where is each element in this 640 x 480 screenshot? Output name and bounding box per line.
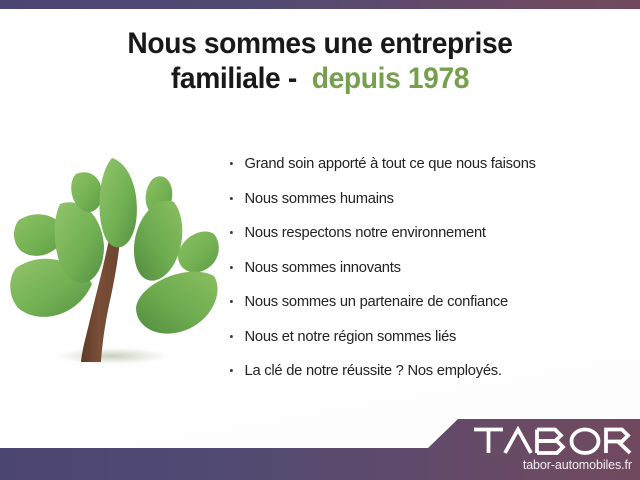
brand-tagline: tabor-automobiles.fr bbox=[460, 457, 632, 473]
bullet-dot-icon bbox=[230, 369, 233, 372]
bullet-dot-icon bbox=[230, 335, 233, 338]
headline-dash: - bbox=[288, 62, 297, 95]
headline-prefix: familiale bbox=[171, 62, 280, 95]
tree-leaf-right-mid bbox=[134, 201, 182, 281]
list-item: Nous sommes un partenaire de confiance bbox=[228, 290, 620, 314]
list-item-label: Nous et notre région sommes liés bbox=[244, 328, 456, 345]
bullet-dot-icon bbox=[230, 197, 233, 200]
top-accent-bar bbox=[0, 0, 640, 9]
tree-leaf-right-upper bbox=[178, 231, 219, 272]
tree-leaf-center bbox=[99, 158, 136, 248]
list-item: Nous sommes humains bbox=[228, 187, 620, 211]
bullet-dot-icon bbox=[230, 300, 233, 303]
bullet-dot-icon bbox=[230, 231, 233, 234]
list-item-label: Nous sommes humains bbox=[244, 190, 393, 207]
brand-lockup: tabor-automobiles.fr bbox=[460, 426, 632, 473]
headline-line-1: Nous sommes une entreprise bbox=[19, 26, 621, 61]
list-item-label: Nous sommes innovants bbox=[244, 259, 400, 276]
slide-canvas: Nous sommes une entreprise familiale - d… bbox=[0, 0, 640, 480]
list-item-label: La clé de notre réussite ? Nos employés. bbox=[244, 362, 501, 379]
page-title: Nous sommes une entreprise familiale - d… bbox=[19, 26, 621, 97]
list-item: Nous et notre région sommes liés bbox=[228, 325, 620, 349]
headline-line-2: familiale - depuis 1978 bbox=[19, 61, 621, 96]
list-item-label: Grand soin apporté à tout ce que nous fa… bbox=[244, 155, 535, 172]
list-item: Grand soin apporté à tout ce que nous fa… bbox=[228, 152, 620, 176]
list-item-label: Nous respectons notre environnement bbox=[244, 224, 485, 241]
tree-shadow bbox=[56, 348, 168, 365]
bullet-dot-icon bbox=[230, 266, 233, 269]
bullet-dot-icon bbox=[230, 162, 233, 165]
brand-band: tabor-automobiles.fr bbox=[0, 408, 640, 480]
list-item-label: Nous sommes un partenaire de confiance bbox=[244, 293, 507, 310]
list-item: La clé de notre réussite ? Nos employés. bbox=[228, 359, 620, 383]
tabor-logo bbox=[472, 426, 632, 456]
list-item: Nous respectons notre environnement bbox=[228, 221, 620, 245]
headline-accent: depuis 1978 bbox=[312, 62, 469, 95]
value-list: Grand soin apporté à tout ce que nous fa… bbox=[228, 152, 632, 394]
list-item: Nous sommes innovants bbox=[228, 256, 620, 280]
tree-leaf-right-lower bbox=[136, 272, 218, 334]
tree-illustration bbox=[8, 150, 226, 390]
